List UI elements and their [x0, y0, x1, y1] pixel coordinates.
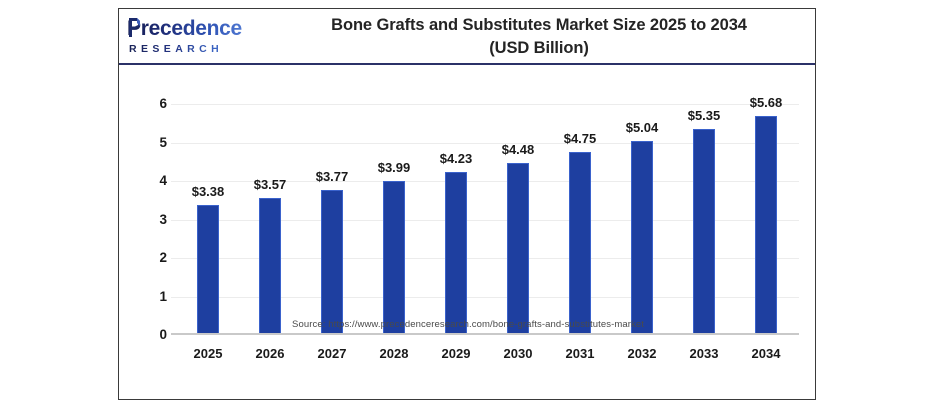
chart-header: Precedence RESEARCH Bone Grafts and Subs…	[119, 9, 815, 63]
bar-slot: $4.752031	[549, 65, 611, 335]
bar[interactable]	[197, 205, 219, 335]
bar[interactable]	[321, 190, 343, 335]
chart-image-canvas: Precedence RESEARCH Bone Grafts and Subs…	[0, 0, 938, 408]
bar-value-label: $5.04	[602, 121, 682, 135]
bar-slot: $4.482030	[487, 65, 549, 335]
bar-slot: $4.232029	[425, 65, 487, 335]
y-axis-tick-label: 4	[123, 174, 167, 188]
precedence-p-mark-icon	[128, 16, 142, 38]
bar-slot: $5.682034	[735, 65, 797, 335]
y-axis-tick-label: 3	[123, 213, 167, 227]
chart-title-block: Bone Grafts and Substitutes Market Size …	[269, 14, 809, 60]
chart-title-line-2: (USD Billion)	[269, 37, 809, 60]
chart-plot: 0123456 $3.382025$3.572026$3.772027$3.99…	[119, 65, 817, 401]
y-axis-tick-label: 5	[123, 136, 167, 150]
chart-title-line-1: Bone Grafts and Substitutes Market Size …	[269, 14, 809, 37]
y-axis: 0123456	[119, 65, 167, 335]
axis-baseline	[171, 333, 799, 335]
bar[interactable]	[569, 152, 591, 335]
y-axis-tick-label: 2	[123, 251, 167, 265]
bar[interactable]	[507, 163, 529, 335]
bar[interactable]	[693, 129, 715, 335]
bar[interactable]	[755, 116, 777, 335]
bar[interactable]	[631, 141, 653, 335]
bar[interactable]	[383, 181, 405, 335]
bar[interactable]	[259, 198, 281, 335]
bar-slot: $5.042032	[611, 65, 673, 335]
logo-wordmark: Precedence	[127, 17, 259, 41]
bar-slot: $3.992028	[363, 65, 425, 335]
bar[interactable]	[445, 172, 467, 335]
y-axis-tick-label: 6	[123, 97, 167, 111]
x-axis-tick-label: 2034	[726, 347, 806, 361]
y-axis-tick-label: 0	[123, 328, 167, 342]
logo-subtitle: RESEARCH	[129, 42, 259, 56]
y-axis-tick-label: 1	[123, 290, 167, 304]
bar-slot: $3.572026	[239, 65, 301, 335]
precedence-research-logo: Precedence RESEARCH	[127, 15, 259, 59]
bar-value-label: $5.35	[664, 109, 744, 123]
bar-slot: $3.382025	[177, 65, 239, 335]
chart-card: Precedence RESEARCH Bone Grafts and Subs…	[118, 8, 816, 400]
bar-value-label: $5.68	[726, 96, 806, 110]
bar-slot: $3.772027	[301, 65, 363, 335]
plot-area: $3.382025$3.572026$3.772027$3.992028$4.2…	[171, 65, 799, 335]
source-note: Source: https://www.precedenceresearch.c…	[119, 319, 817, 330]
